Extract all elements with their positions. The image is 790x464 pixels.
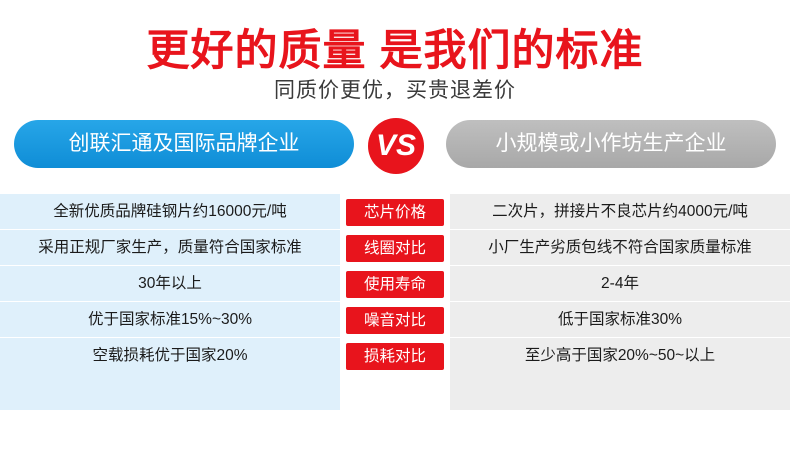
versus-row: 创联汇通及国际品牌企业 VS 小规模或小作坊生产企业	[0, 120, 790, 172]
comparison-category: 噪音对比	[340, 302, 450, 338]
status-badge: 芯片价格	[346, 199, 444, 226]
table-row: 空载损耗优于国家20% 损耗对比 至少高于国家20%~50~以上	[0, 338, 790, 374]
comparison-right-value: 2-4年	[450, 266, 790, 302]
comparison-category: 芯片价格	[340, 194, 450, 230]
comparison-category: 损耗对比	[340, 338, 450, 374]
status-badge: 使用寿命	[346, 271, 444, 298]
versus-right-label: 小规模或小作坊生产企业	[446, 120, 776, 168]
comparison-category: 线圈对比	[340, 230, 450, 266]
promo-banner: 更好的质量 是我们的标准 同质价更优，买贵退差价 创联汇通及国际品牌企业 VS …	[0, 0, 790, 464]
comparison-table: 创联汇通 CHUANGLIANHUITONG 全新优质品牌硅钢片约16000元/…	[0, 194, 790, 410]
comparison-category: 使用寿命	[340, 266, 450, 302]
comparison-left-value: 全新优质品牌硅钢片约16000元/吨	[0, 194, 340, 230]
versus-left-label: 创联汇通及国际品牌企业	[14, 120, 354, 168]
status-badge: 损耗对比	[346, 343, 444, 370]
table-row: 30年以上 使用寿命 2-4年	[0, 266, 790, 302]
page-subtitle: 同质价更优，买贵退差价	[0, 74, 790, 104]
status-badge: 噪音对比	[346, 307, 444, 334]
comparison-right-value: 二次片，拼接片不良芯片约4000元/吨	[450, 194, 790, 230]
comparison-right-value: 低于国家标准30%	[450, 302, 790, 338]
comparison-left-value: 采用正规厂家生产，质量符合国家标准	[0, 230, 340, 266]
page-title: 更好的质量 是我们的标准	[0, 16, 790, 78]
status-badge: 线圈对比	[346, 235, 444, 262]
comparison-left-value: 30年以上	[0, 266, 340, 302]
versus-badge-icon: VS	[368, 118, 424, 174]
table-row: 全新优质品牌硅钢片约16000元/吨 芯片价格 二次片，拼接片不良芯片约4000…	[0, 194, 790, 230]
comparison-left-value: 空载损耗优于国家20%	[0, 338, 340, 374]
comparison-left-value: 优于国家标准15%~30%	[0, 302, 340, 338]
comparison-right-value: 至少高于国家20%~50~以上	[450, 338, 790, 374]
table-row: 采用正规厂家生产，质量符合国家标准 线圈对比 小厂生产劣质包线不符合国家质量标准	[0, 230, 790, 266]
comparison-right-value: 小厂生产劣质包线不符合国家质量标准	[450, 230, 790, 266]
table-row: 优于国家标准15%~30% 噪音对比 低于国家标准30%	[0, 302, 790, 338]
